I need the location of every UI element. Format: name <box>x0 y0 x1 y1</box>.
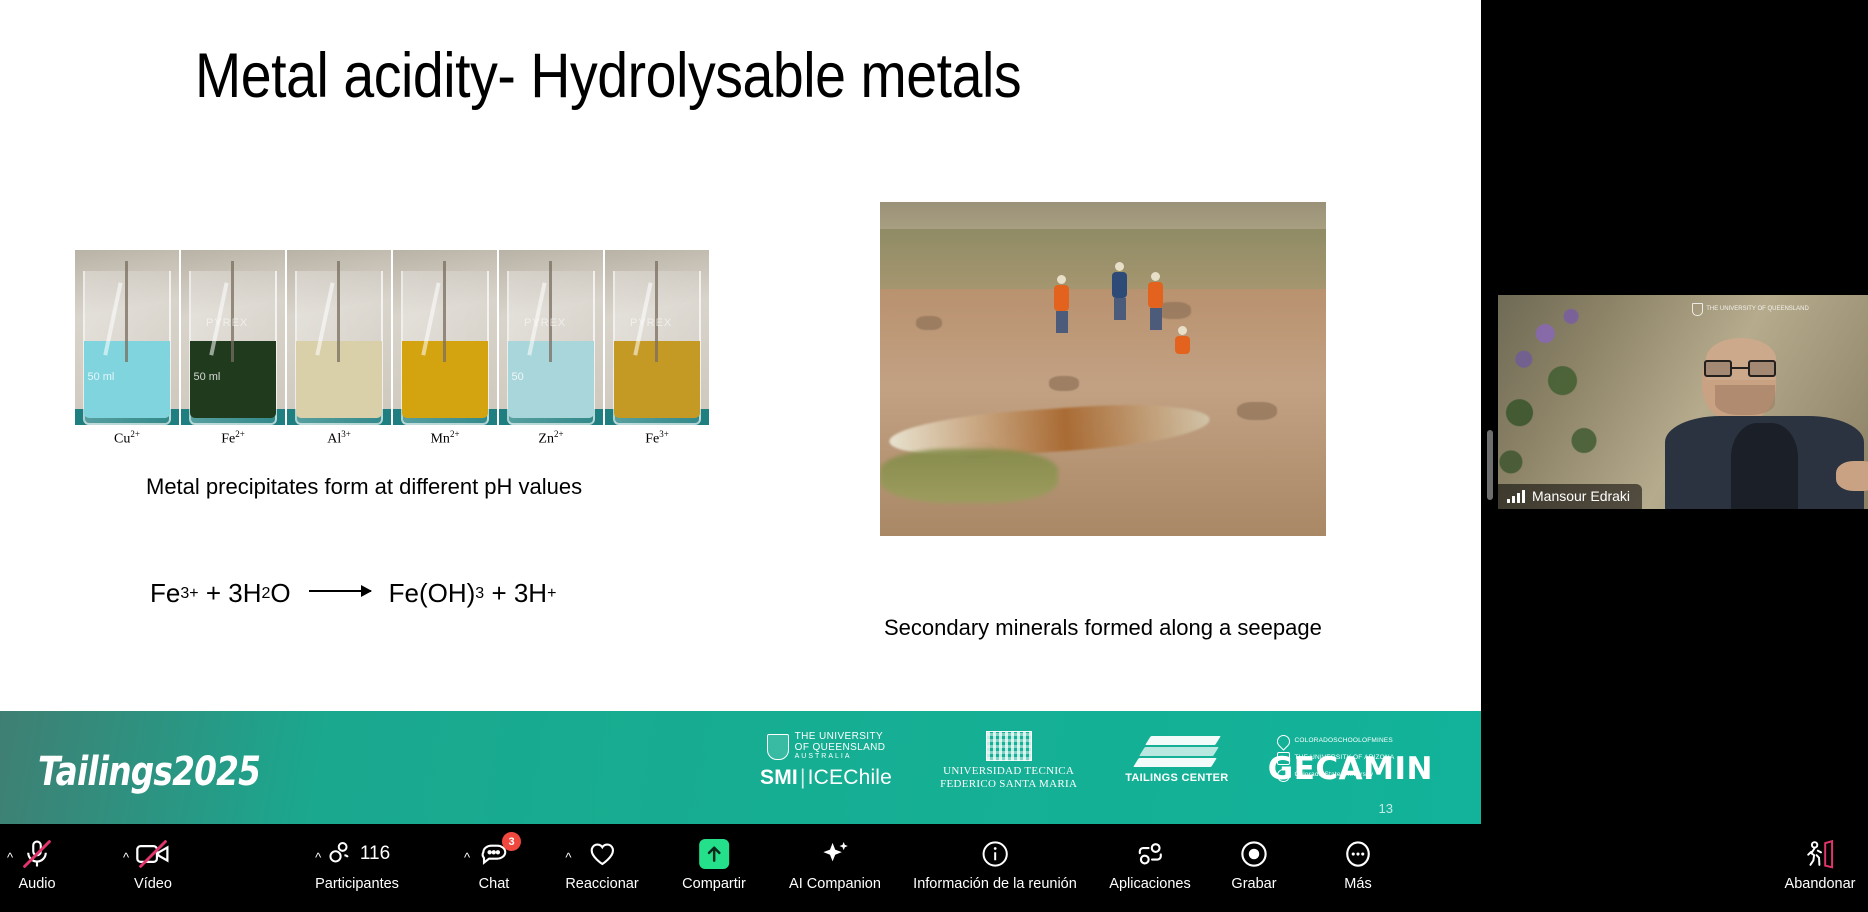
signal-strength-icon <box>1507 490 1525 503</box>
toolbar-item-label: AI Companion <box>789 876 881 892</box>
toolbar-item-sparkle[interactable]: AI Companion <box>789 836 881 892</box>
tailings-center-logo: TAILINGS CENTER <box>1125 736 1228 785</box>
uq-line3: AUSTRALIA <box>795 753 886 760</box>
meeting-toolbar: Audio^Vídeo^116Participantes^3Chat^Reacc… <box>0 824 1868 912</box>
beaker-cell: 50 mlCu2+ <box>75 250 179 430</box>
beaker-photo-strip: 50 mlCu2+PYREX50 mlFe2+Al3+Mn2+PYREX50Zn… <box>75 250 735 430</box>
field-seepage-photo <box>880 202 1326 536</box>
photo-rock <box>1237 402 1277 420</box>
beaker-photo: PYREX50 <box>499 250 603 425</box>
sparkle-icon <box>819 836 851 872</box>
zoom-meeting-window: Metal acidity- Hydrolysable metals 50 ml… <box>0 0 1868 912</box>
beaker-photo: PYREX <box>605 250 709 425</box>
uq-line2: OF QUEENSLAND <box>795 743 886 754</box>
gecamin-logo: GECAMIN <box>1268 751 1433 787</box>
tailings2025-logo: Tailings2025 <box>38 749 260 795</box>
toolbar-item-heart[interactable]: Reaccionar^ <box>565 836 638 892</box>
beaker-photo: PYREX50 ml <box>181 250 285 425</box>
beaker-label: Fe2+ <box>181 429 285 448</box>
beaker-label: Cu2+ <box>75 429 179 448</box>
chat-unread-badge: 3 <box>502 832 521 851</box>
toolbar-item-camera-off[interactable]: Vídeo^ <box>123 836 183 892</box>
caption-precipitates: Metal precipitates form at different pH … <box>146 474 582 500</box>
eq-plus-proton: + 3H <box>491 578 547 609</box>
toolbar-item-label: Abandonar <box>1785 876 1856 892</box>
toolbar-item-leave-meeting[interactable]: Abandonar <box>1785 836 1856 892</box>
smi-separator: | <box>800 766 806 789</box>
beaker-cell: PYREX50Zn2+ <box>499 250 603 430</box>
eq-water-tail: O <box>270 578 290 609</box>
photo-vegetation <box>880 449 1058 502</box>
toolbar-item-info-circle[interactable]: Información de la reunión <box>913 836 1077 892</box>
record-icon <box>1239 836 1269 872</box>
photo-person <box>1148 272 1164 330</box>
eq-reactant-charge: 3+ <box>180 585 198 603</box>
toolbar-item-more-ellipsis[interactable]: Más <box>1328 836 1388 892</box>
smi-bold: SMI <box>760 766 798 789</box>
chevron-up-icon[interactable]: ^ <box>315 850 427 865</box>
share-screen-icon <box>699 836 729 872</box>
photo-rock <box>1049 376 1079 391</box>
eq-product: Fe(OH) <box>389 578 476 609</box>
glasses-icon <box>1704 360 1776 377</box>
eq-product-sub: 3 <box>475 585 484 603</box>
reaction-arrow-icon <box>309 590 371 592</box>
chevron-up-icon[interactable]: ^ <box>565 850 666 865</box>
slide-title: Metal acidity- Hydrolysable metals <box>195 40 1021 112</box>
toolbar-item-label: Chat <box>479 876 510 892</box>
tailings-center-mark-icon <box>1134 736 1220 770</box>
participant-name: Mansour Edraki <box>1532 488 1630 504</box>
beaker-cell: PYREXFe3+ <box>605 250 709 430</box>
toolbar-item-participants[interactable]: 116Participantes^ <box>315 836 399 892</box>
chemical-equation: Fe3+ + 3H2O Fe(OH)3 + 3H+ <box>150 578 556 609</box>
beaker-photo <box>287 250 391 425</box>
beaker-label: Zn2+ <box>499 429 603 448</box>
toolbar-item-label: Grabar <box>1231 876 1276 892</box>
leave-meeting-icon <box>1804 836 1836 872</box>
eq-water-sub: 2 <box>261 585 270 603</box>
utfsm-line2: FEDERICO SANTA MARIA <box>940 778 1077 791</box>
eq-reactant-fe: Fe <box>150 578 180 609</box>
smi-thin: ICEChile <box>808 766 892 789</box>
photo-person <box>1054 275 1070 333</box>
participant-figure <box>1661 329 1868 509</box>
photo-rock <box>916 316 942 330</box>
video-strip-scrollbar[interactable] <box>1487 430 1493 500</box>
beaker-photo <box>393 250 497 425</box>
caption-seepage: Secondary minerals formed along a seepag… <box>884 615 1322 641</box>
eq-plus-water: + 3H <box>206 578 262 609</box>
uq-logo: THE UNIVERSITY OF QUEENSLAND AUSTRALIA S… <box>760 732 892 788</box>
beaker-cell: Mn2+ <box>393 250 497 430</box>
toolbar-item-label: Compartir <box>682 876 746 892</box>
tailings-center-name: TAILINGS CENTER <box>1125 773 1228 785</box>
chevron-up-icon[interactable]: ^ <box>123 850 211 865</box>
beaker-cell: Al3+ <box>287 250 391 430</box>
beaker-label: Mn2+ <box>393 429 497 448</box>
toolbar-item-label: Información de la reunión <box>913 876 1077 892</box>
utfsm-crest-icon <box>986 731 1032 761</box>
toolbar-item-record[interactable]: Grabar <box>1224 836 1284 892</box>
uq-shield-icon <box>767 734 789 760</box>
toolbar-item-share-screen[interactable]: Compartir <box>682 836 746 892</box>
video-uq-watermark: THE UNIVERSITY OF QUEENSLAND <box>1692 301 1809 319</box>
toolbar-item-microphone-muted[interactable]: Audio^ <box>7 836 67 892</box>
participant-video-tile[interactable]: THE UNIVERSITY OF QUEENSLAND Mansour Edr… <box>1498 295 1868 509</box>
beaker-label: Al3+ <box>287 429 391 448</box>
toolbar-item-label: Participantes <box>315 876 399 892</box>
chevron-up-icon[interactable]: ^ <box>464 850 552 865</box>
beaker-cell: PYREX50 mlFe2+ <box>181 250 285 430</box>
toolbar-item-label: Vídeo <box>134 876 172 892</box>
eq-proton-charge: + <box>547 585 556 603</box>
utfsm-line1: UNIVERSIDAD TECNICA <box>940 765 1077 778</box>
partner1-name: COLORADOSCHOOLOFMINES <box>1295 738 1393 745</box>
participant-name-badge: Mansour Edraki <box>1498 484 1642 509</box>
smi-icechile-wordmark: SMI|ICEChile <box>760 767 892 789</box>
toolbar-item-apps[interactable]: Aplicaciones <box>1109 836 1190 892</box>
chevron-up-icon[interactable]: ^ <box>7 850 95 865</box>
toolbar-item-chat[interactable]: 3Chat^ <box>464 836 524 892</box>
utfsm-logo: UNIVERSIDAD TECNICA FEDERICO SANTA MARIA <box>940 731 1077 790</box>
shared-screen-slide: Metal acidity- Hydrolysable metals 50 ml… <box>0 0 1481 824</box>
more-ellipsis-icon <box>1343 836 1373 872</box>
photo-person <box>1112 262 1128 320</box>
toolbar-item-label: Más <box>1344 876 1371 892</box>
beaker-photo: 50 ml <box>75 250 179 425</box>
toolbar-item-label: Aplicaciones <box>1109 876 1190 892</box>
csm-drop-icon <box>1274 732 1292 750</box>
slide-page-number: 13 <box>1379 801 1393 816</box>
info-circle-icon <box>980 836 1010 872</box>
beaker-label: Fe3+ <box>605 429 709 448</box>
toolbar-item-label: Audio <box>18 876 55 892</box>
apps-icon <box>1135 836 1165 872</box>
slide-footer-band: Tailings2025 THE UNIVERSITY OF QUEENSLAN… <box>0 711 1481 824</box>
uq-shield-icon <box>1692 303 1703 316</box>
toolbar-item-label: Reaccionar <box>565 876 638 892</box>
photo-person <box>1174 326 1190 354</box>
